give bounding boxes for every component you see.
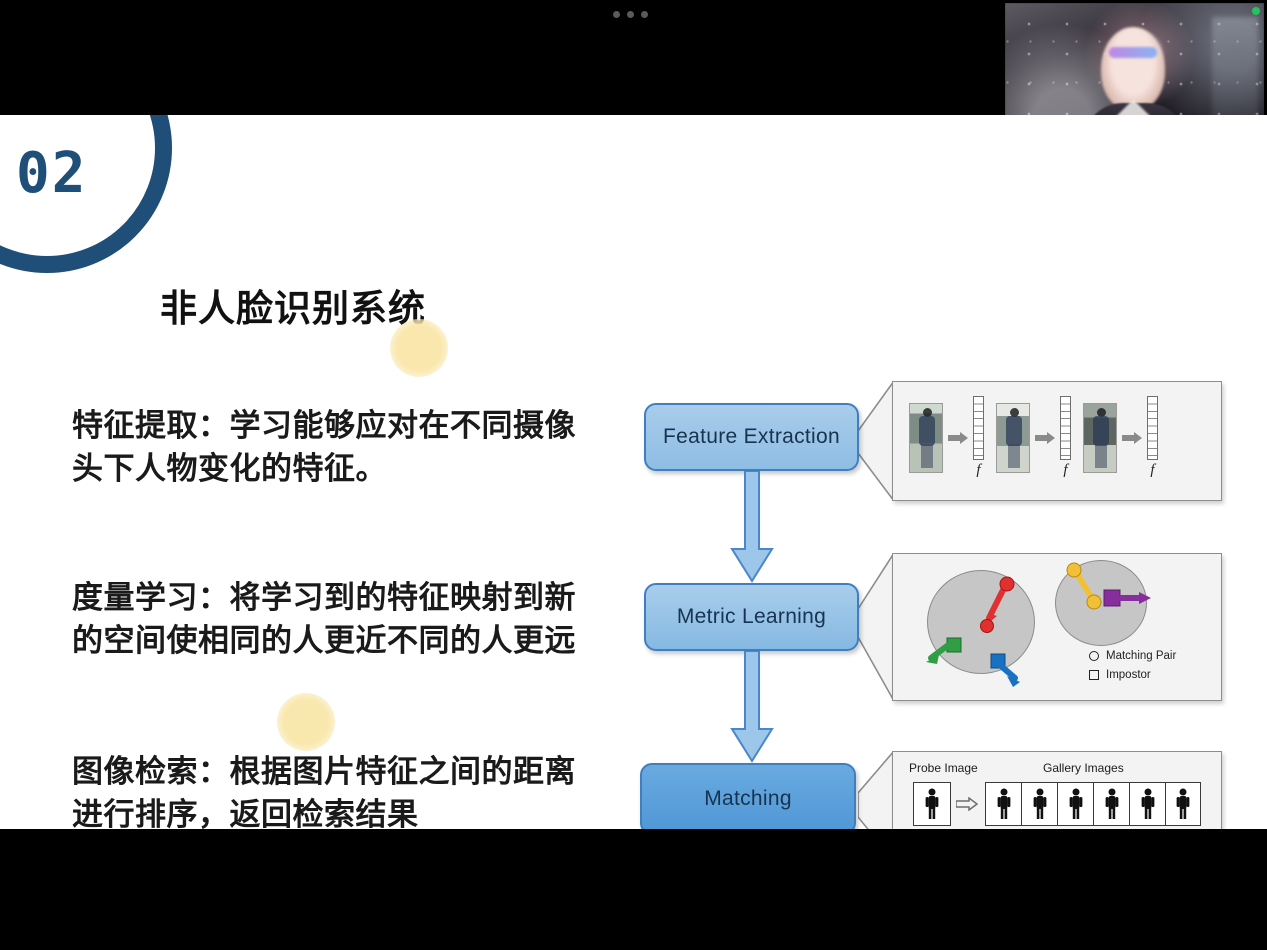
kebab-dot <box>627 11 634 18</box>
feature-extraction-sample: f <box>1083 396 1158 479</box>
bullet-item: 度量学习：将学习到的特征映射到新的空间使相同的人更近不同的人更远 <box>72 577 592 663</box>
feature-extraction-panel: f f <box>892 381 1222 501</box>
feature-extraction-row: f f <box>909 396 1158 479</box>
feature-symbol: f <box>1060 462 1071 479</box>
legend-label: Impostor <box>1106 669 1151 681</box>
connector-wedge <box>858 751 894 829</box>
meeting-screenshare-window: 4 锦时与法 朱雨欣 02 非人脸识别系统 特征提取：学习能够应对在不同摄像头下… <box>0 0 1267 950</box>
probe-image-label: Probe Image <box>909 761 978 775</box>
gallery-images-label: Gallery Images <box>1043 761 1124 775</box>
legend-item: Impostor <box>1089 669 1176 681</box>
feature-vector <box>1147 396 1158 460</box>
person-glyph-icon <box>1032 788 1048 820</box>
diagram-node-matching: Matching <box>640 763 856 829</box>
maps-to-arrow-icon <box>1035 432 1055 444</box>
pedestrian-image <box>996 403 1030 473</box>
pipeline-diagram: Feature Extraction Metric Learning Match… <box>620 243 1240 753</box>
circle-marker-icon <box>1089 651 1099 661</box>
metric-learning-legend: Matching Pair Impostor <box>1089 650 1176 688</box>
matching-panel: Probe Image Gallery Images <box>892 751 1222 829</box>
feature-symbol: f <box>1147 462 1158 479</box>
node-label: Metric Learning <box>677 605 826 629</box>
person-glyph-icon <box>1104 788 1120 820</box>
kebab-dot <box>641 11 648 18</box>
gallery-image <box>1057 782 1093 826</box>
bullet-item: 特征提取：学习能够应对在不同摄像头下人物变化的特征。 <box>72 405 592 491</box>
square-marker-icon <box>1089 670 1099 680</box>
node-label: Feature Extraction <box>663 425 840 449</box>
highlight-annotation <box>277 693 335 751</box>
compare-arrow-icon <box>956 797 978 811</box>
section-number: 02 <box>16 141 87 206</box>
kebab-dot <box>613 11 620 18</box>
legend-label: Matching Pair <box>1106 650 1176 662</box>
feature-vector <box>1060 396 1071 460</box>
diagram-node-feature-extraction: Feature Extraction <box>644 403 859 471</box>
gallery-image <box>1093 782 1129 826</box>
feature-symbol: f <box>973 462 984 479</box>
legend-item: Matching Pair <box>1089 650 1176 662</box>
diagram-node-metric-learning: Metric Learning <box>644 583 859 651</box>
more-options-icon[interactable] <box>613 7 648 21</box>
video-person-glasses <box>1109 47 1157 58</box>
probe-image <box>913 782 951 826</box>
connector-wedge <box>858 553 894 701</box>
person-glyph-icon <box>1140 788 1156 820</box>
bullet-item: 图像检索：根据图片特征之间的距离进行排序，返回检索结果 <box>72 751 592 829</box>
page-title: 非人脸识别系统 <box>160 278 426 332</box>
gallery-image <box>985 782 1021 826</box>
feature-extraction-sample: f <box>996 396 1071 479</box>
node-label: Matching <box>704 787 792 811</box>
feature-vector <box>973 396 984 460</box>
online-status-dot <box>1252 7 1260 15</box>
top-bar: 4 锦时与法 朱雨欣 <box>0 0 1267 115</box>
person-glyph-icon <box>996 788 1012 820</box>
gallery-image <box>1165 782 1201 826</box>
maps-to-arrow-icon <box>948 432 968 444</box>
person-glyph-icon <box>924 788 940 820</box>
person-glyph-icon <box>1175 788 1191 820</box>
person-glyph-icon <box>1068 788 1084 820</box>
gallery-images <box>985 782 1201 826</box>
maps-to-arrow-icon <box>1122 432 1142 444</box>
pedestrian-image <box>1083 403 1117 473</box>
feature-extraction-sample: f <box>909 396 984 479</box>
video-background-object <box>1212 17 1258 127</box>
bottom-bar <box>0 829 1267 950</box>
gallery-image <box>1021 782 1057 826</box>
metric-learning-panel: Matching Pair Impostor <box>892 553 1222 701</box>
flow-arrow-down-icon <box>730 471 774 583</box>
flow-arrow-down-icon <box>730 651 774 763</box>
shared-slide[interactable]: 02 非人脸识别系统 特征提取：学习能够应对在不同摄像头下人物变化的特征。 度量… <box>0 115 1267 829</box>
connector-wedge <box>858 381 894 501</box>
pedestrian-image <box>909 403 943 473</box>
gallery-image <box>1129 782 1165 826</box>
